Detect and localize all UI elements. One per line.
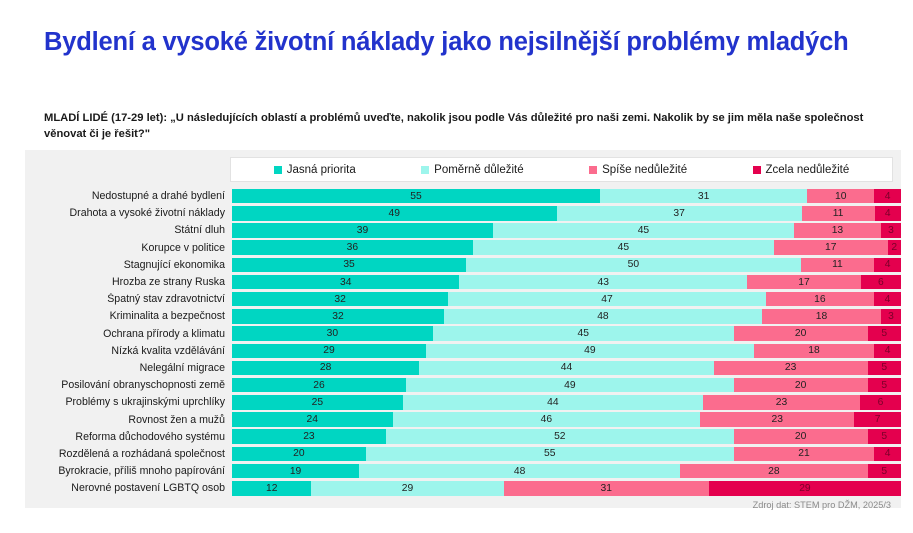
bar-segment[interactable]: 19 xyxy=(232,464,359,479)
bar-value-label: 48 xyxy=(514,466,525,477)
chart-row: Stagnující ekonomika3550114 xyxy=(25,257,901,273)
bar-value-label: 17 xyxy=(825,242,836,253)
bar-segment[interactable]: 44 xyxy=(419,361,713,376)
bar-segment[interactable]: 11 xyxy=(802,206,875,221)
bar-segment[interactable]: 55 xyxy=(232,189,600,204)
bar-segment[interactable]: 6 xyxy=(861,275,901,290)
bar-segment[interactable]: 21 xyxy=(734,447,874,462)
bar-value-label: 45 xyxy=(638,225,649,236)
bar-value-label: 48 xyxy=(597,311,608,322)
bar-value-label: 20 xyxy=(795,328,806,339)
chart-row: Reforma důchodového systému2352205 xyxy=(25,429,901,445)
bar-segment[interactable]: 31 xyxy=(504,481,709,496)
bar-value-label: 4 xyxy=(885,259,891,270)
bar-value-label: 55 xyxy=(544,448,555,459)
bar-segment[interactable]: 20 xyxy=(734,429,868,444)
bar-segment[interactable]: 46 xyxy=(393,412,701,427)
bar-value-label: 43 xyxy=(598,277,609,288)
bar-segment[interactable]: 23 xyxy=(703,395,860,410)
bar-value-label: 35 xyxy=(343,259,354,270)
stacked-bar: 3045205 xyxy=(232,326,901,341)
bar-segment[interactable]: 39 xyxy=(232,223,493,238)
bar-segment[interactable]: 23 xyxy=(714,361,868,376)
bar-value-label: 4 xyxy=(885,208,891,219)
category-label: Stagnující ekonomika xyxy=(25,259,232,271)
category-label: Problémy s ukrajinskými uprchlíky xyxy=(25,396,232,408)
bar-value-label: 5 xyxy=(881,380,887,391)
stacked-bar: 3645172 xyxy=(232,240,901,255)
legend-item-label: Jasná priorita xyxy=(287,164,356,176)
bar-segment[interactable]: 32 xyxy=(232,309,444,324)
bar-value-label: 13 xyxy=(832,225,843,236)
bar-value-label: 26 xyxy=(313,380,324,391)
bar-value-label: 44 xyxy=(547,397,558,408)
category-label: Kriminalita a bezpečnost xyxy=(25,310,232,322)
legend-swatch-icon xyxy=(274,166,282,174)
bar-segment[interactable]: 17 xyxy=(747,275,861,290)
bar-segment[interactable]: 48 xyxy=(444,309,762,324)
category-label: Nízká kvalita vzdělávání xyxy=(25,345,232,357)
bar-value-label: 37 xyxy=(673,208,684,219)
legend-swatch-icon xyxy=(421,166,429,174)
chart-row: Drahota a vysoké životní náklady4937114 xyxy=(25,205,901,221)
bar-value-label: 19 xyxy=(290,466,301,477)
legend-item-label: Zcela nedůležité xyxy=(766,164,850,176)
bar-segment[interactable]: 5 xyxy=(868,464,901,479)
bar-value-label: 23 xyxy=(303,431,314,442)
bar-value-label: 32 xyxy=(334,294,345,305)
chart-row: Rozdělená a rozhádaná společnost2055214 xyxy=(25,446,901,462)
stacked-bar: 2544236 xyxy=(232,395,901,410)
stacked-bar: 2446237 xyxy=(232,412,901,427)
bar-segment[interactable]: 26 xyxy=(232,378,406,393)
bar-segment[interactable]: 28 xyxy=(680,464,867,479)
bar-segment[interactable]: 18 xyxy=(762,309,881,324)
bar-value-label: 6 xyxy=(878,397,884,408)
category-label: Nedostupné a drahé bydlení xyxy=(25,190,232,202)
bar-value-label: 49 xyxy=(584,345,595,356)
bar-segment[interactable]: 36 xyxy=(232,240,473,255)
bar-segment[interactable]: 30 xyxy=(232,326,433,341)
bar-segment[interactable]: 31 xyxy=(600,189,807,204)
bar-segment[interactable]: 32 xyxy=(232,292,448,307)
bar-segment[interactable]: 4 xyxy=(874,258,901,273)
bar-segment[interactable]: 23 xyxy=(700,412,854,427)
bar-segment[interactable]: 3 xyxy=(881,309,901,324)
bar-value-label: 39 xyxy=(357,225,368,236)
bar-segment[interactable]: 3 xyxy=(881,223,901,238)
bar-value-label: 18 xyxy=(808,345,819,356)
bar-segment[interactable]: 29 xyxy=(232,344,426,359)
bar-segment[interactable]: 12 xyxy=(232,481,311,496)
stacked-bar-chart: Nedostupné a drahé bydlení5531104Drahota… xyxy=(25,188,901,497)
bar-value-label: 29 xyxy=(402,483,413,494)
bar-value-label: 23 xyxy=(785,362,796,373)
bar-segment[interactable]: 20 xyxy=(734,326,868,341)
source-note: Zdroj dat: STEM pro DŽM, 2025/3 xyxy=(753,500,891,510)
stacked-bar: 3550114 xyxy=(232,258,901,273)
chart-row: Nízká kvalita vzdělávání2949184 xyxy=(25,343,901,359)
bar-value-label: 29 xyxy=(323,345,334,356)
bar-value-label: 20 xyxy=(795,380,806,391)
legend-item[interactable]: Spíše nedůležité xyxy=(589,164,687,176)
bar-value-label: 49 xyxy=(389,208,400,219)
slide: Bydlení a vysoké životní náklady jako ne… xyxy=(0,0,913,533)
bar-value-label: 31 xyxy=(600,483,611,494)
bar-segment[interactable]: 5 xyxy=(868,361,901,376)
chart-row: Ochrana přírody a klimatu3045205 xyxy=(25,326,901,342)
page-title: Bydlení a vysoké životní náklady jako ne… xyxy=(44,26,874,59)
stacked-bar: 2949184 xyxy=(232,344,901,359)
bar-value-label: 12 xyxy=(266,483,277,494)
bar-segment[interactable]: 37 xyxy=(557,206,802,221)
chart-row: Nerovné postavení LGBTQ osob12293129 xyxy=(25,480,901,496)
chart-row: Kriminalita a bezpečnost3248183 xyxy=(25,308,901,324)
bar-value-label: 49 xyxy=(564,380,575,391)
bar-segment[interactable]: 5 xyxy=(868,429,901,444)
chart-row: Nedostupné a drahé bydlení5531104 xyxy=(25,188,901,204)
legend-swatch-icon xyxy=(589,166,597,174)
category-label: Rovnost žen a mužů xyxy=(25,414,232,426)
stacked-bar: 5531104 xyxy=(232,189,901,204)
bar-segment[interactable]: 11 xyxy=(801,258,875,273)
bar-value-label: 5 xyxy=(881,466,887,477)
bar-value-label: 4 xyxy=(885,294,891,305)
chart-row: Korupce v politice3645172 xyxy=(25,240,901,256)
bar-segment[interactable]: 35 xyxy=(232,258,466,273)
bar-value-label: 25 xyxy=(312,397,323,408)
bar-segment[interactable]: 34 xyxy=(232,275,459,290)
bar-segment[interactable]: 4 xyxy=(874,344,901,359)
bar-segment[interactable]: 45 xyxy=(433,326,734,341)
bar-segment[interactable]: 7 xyxy=(854,412,901,427)
bar-segment[interactable]: 49 xyxy=(426,344,754,359)
stacked-bar: 12293129 xyxy=(232,481,901,496)
bar-value-label: 4 xyxy=(885,191,891,202)
category-label: Drahota a vysoké životní náklady xyxy=(25,207,232,219)
bar-segment[interactable]: 23 xyxy=(232,429,386,444)
legend-item-label: Spíše nedůležité xyxy=(602,164,687,176)
chart-row: Byrokracie, příliš mnoho papírování19482… xyxy=(25,463,901,479)
bar-segment[interactable]: 17 xyxy=(774,240,888,255)
bar-value-label: 21 xyxy=(798,448,809,459)
bar-segment[interactable]: 28 xyxy=(232,361,419,376)
bar-segment[interactable]: 52 xyxy=(386,429,734,444)
bar-value-label: 11 xyxy=(832,259,843,270)
category-label: Státní dluh xyxy=(25,224,232,236)
chart-row: Nelegální migrace2844235 xyxy=(25,360,901,376)
category-label: Reforma důchodového systému xyxy=(25,431,232,443)
chart-legend: Jasná prioritaPoměrně důležitéSpíše nedů… xyxy=(230,157,893,182)
category-label: Rozdělená a rozhádaná společnost xyxy=(25,448,232,460)
bar-segment[interactable]: 20 xyxy=(232,447,366,462)
bar-value-label: 23 xyxy=(771,414,782,425)
bar-value-label: 50 xyxy=(628,259,639,270)
category-label: Nerovné postavení LGBTQ osob xyxy=(25,482,232,494)
bar-segment[interactable]: 10 xyxy=(807,189,874,204)
bar-segment[interactable]: 4 xyxy=(875,206,901,221)
bar-segment[interactable]: 6 xyxy=(860,395,901,410)
bar-value-label: 5 xyxy=(881,328,887,339)
bar-value-label: 2 xyxy=(891,242,897,253)
legend-item[interactable]: Zcela nedůležité xyxy=(753,164,850,176)
chart-panel: Jasná prioritaPoměrně důležitéSpíše nedů… xyxy=(25,150,901,508)
bar-value-label: 46 xyxy=(541,414,552,425)
bar-value-label: 23 xyxy=(776,397,787,408)
bar-value-label: 3 xyxy=(888,311,894,322)
bar-segment[interactable]: 25 xyxy=(232,395,403,410)
bar-segment[interactable]: 20 xyxy=(734,378,868,393)
bar-value-label: 5 xyxy=(881,362,887,373)
chart-row: Špatný stav zdravotnictví3247164 xyxy=(25,291,901,307)
bar-segment[interactable]: 47 xyxy=(448,292,766,307)
bar-segment[interactable]: 16 xyxy=(766,292,874,307)
legend-swatch-icon xyxy=(753,166,761,174)
stacked-bar: 3248183 xyxy=(232,309,901,324)
chart-row: Posilování obranyschopnosti země2649205 xyxy=(25,377,901,393)
bar-segment[interactable]: 5 xyxy=(868,326,901,341)
legend-item[interactable]: Jasná priorita xyxy=(274,164,356,176)
category-label: Nelegální migrace xyxy=(25,362,232,374)
bar-value-label: 17 xyxy=(798,277,809,288)
chart-row: Problémy s ukrajinskými uprchlíky2544236 xyxy=(25,394,901,410)
bar-value-label: 11 xyxy=(833,208,844,219)
bar-value-label: 5 xyxy=(881,431,887,442)
bar-segment[interactable]: 44 xyxy=(403,395,703,410)
bar-value-label: 18 xyxy=(816,311,827,322)
stacked-bar: 1948285 xyxy=(232,464,901,479)
bar-segment[interactable]: 4 xyxy=(874,447,901,462)
bar-value-label: 31 xyxy=(698,191,709,202)
legend-item[interactable]: Poměrně důležité xyxy=(421,164,524,176)
bar-segment[interactable]: 45 xyxy=(473,240,774,255)
stacked-bar: 3945133 xyxy=(232,223,901,238)
stacked-bar: 2352205 xyxy=(232,429,901,444)
bar-segment[interactable]: 45 xyxy=(493,223,794,238)
bar-segment[interactable]: 29 xyxy=(311,481,503,496)
stacked-bar: 3443176 xyxy=(232,275,901,290)
bar-segment[interactable]: 50 xyxy=(466,258,801,273)
chart-row: Rovnost žen a mužů2446237 xyxy=(25,411,901,427)
chart-row: Hrozba ze strany Ruska3443176 xyxy=(25,274,901,290)
bar-segment[interactable]: 43 xyxy=(459,275,747,290)
bar-value-label: 4 xyxy=(885,448,891,459)
bar-value-label: 16 xyxy=(814,294,825,305)
bar-value-label: 3 xyxy=(888,225,894,236)
stacked-bar: 3247164 xyxy=(232,292,901,307)
bar-segment[interactable]: 2 xyxy=(888,240,901,255)
stacked-bar: 2055214 xyxy=(232,447,901,462)
category-label: Ochrana přírody a klimatu xyxy=(25,328,232,340)
stacked-bar: 2649205 xyxy=(232,378,901,393)
bar-segment[interactable]: 24 xyxy=(232,412,393,427)
bar-value-label: 45 xyxy=(618,242,629,253)
bar-value-label: 20 xyxy=(293,448,304,459)
bar-segment[interactable]: 4 xyxy=(874,189,901,204)
bar-segment[interactable]: 55 xyxy=(366,447,734,462)
bar-value-label: 36 xyxy=(347,242,358,253)
bar-value-label: 29 xyxy=(799,483,810,494)
question-subtitle: MLADÍ LIDÉ (17-29 let): „U následujících… xyxy=(44,110,882,142)
stacked-bar: 2844235 xyxy=(232,361,901,376)
bar-value-label: 44 xyxy=(561,362,572,373)
bar-segment[interactable]: 48 xyxy=(359,464,680,479)
bar-value-label: 52 xyxy=(554,431,565,442)
bar-value-label: 28 xyxy=(320,362,331,373)
stacked-bar: 4937114 xyxy=(232,206,901,221)
bar-value-label: 4 xyxy=(885,345,891,356)
bar-segment[interactable]: 49 xyxy=(232,206,557,221)
chart-row: Státní dluh3945133 xyxy=(25,222,901,238)
bar-value-label: 32 xyxy=(332,311,343,322)
bar-value-label: 47 xyxy=(601,294,612,305)
bar-value-label: 34 xyxy=(340,277,351,288)
bar-value-label: 10 xyxy=(835,191,846,202)
bar-segment[interactable]: 49 xyxy=(406,378,734,393)
bar-value-label: 24 xyxy=(307,414,318,425)
category-label: Posilování obranyschopnosti země xyxy=(25,379,232,391)
bar-value-label: 28 xyxy=(768,466,779,477)
bar-value-label: 20 xyxy=(795,431,806,442)
bar-value-label: 6 xyxy=(878,277,884,288)
bar-value-label: 45 xyxy=(577,328,588,339)
category-label: Hrozba ze strany Ruska xyxy=(25,276,232,288)
bar-value-label: 30 xyxy=(327,328,338,339)
bar-segment[interactable]: 13 xyxy=(794,223,881,238)
bar-segment[interactable]: 5 xyxy=(868,378,901,393)
bar-value-label: 7 xyxy=(875,414,881,425)
bar-segment[interactable]: 29 xyxy=(709,481,901,496)
bar-segment[interactable]: 4 xyxy=(874,292,901,307)
category-label: Špatný stav zdravotnictví xyxy=(25,293,232,305)
category-label: Korupce v politice xyxy=(25,242,232,254)
legend-item-label: Poměrně důležité xyxy=(434,164,524,176)
bar-value-label: 55 xyxy=(410,191,421,202)
category-label: Byrokracie, příliš mnoho papírování xyxy=(25,465,232,477)
bar-segment[interactable]: 18 xyxy=(754,344,874,359)
